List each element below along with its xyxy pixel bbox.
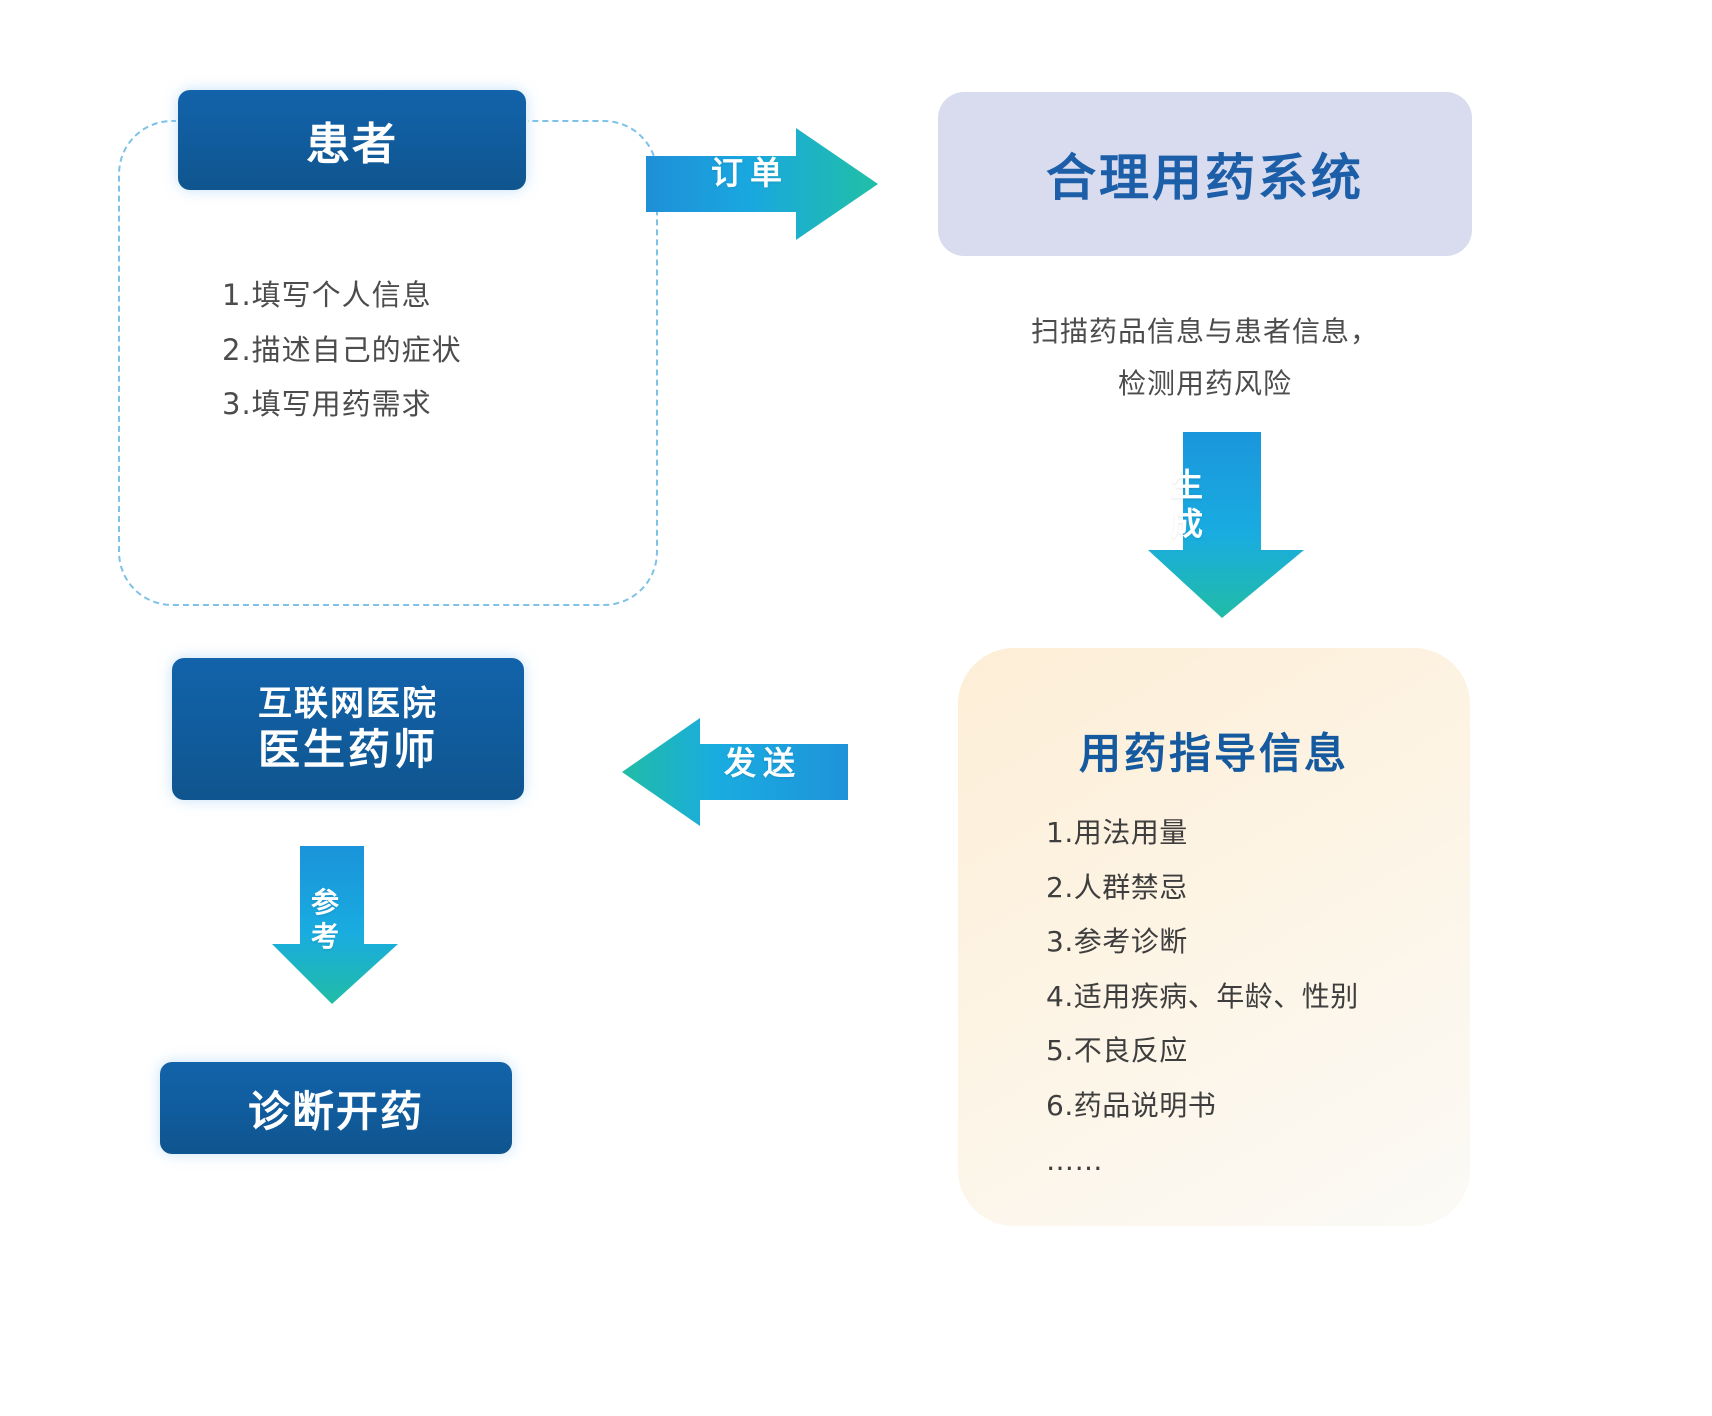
list-item: 2.人群禁忌 (1046, 861, 1466, 916)
arrow-generate-label: 生 成 (1160, 466, 1214, 544)
guidance-title: 用药指导信息 (958, 720, 1470, 781)
node-diagnose-prescribe-label: 诊断开药 (248, 1078, 424, 1139)
list-item: …… (1046, 1134, 1466, 1189)
node-patient[interactable]: 患者 (178, 90, 526, 190)
node-diagnose-prescribe[interactable]: 诊断开药 (160, 1062, 512, 1154)
node-medication-guidance[interactable]: 用药指导信息 1.用法用量 2.人群禁忌 3.参考诊断 4.适用疾病、年龄、性别… (958, 648, 1470, 1226)
node-rational-drug-system[interactable]: 合理用药系统 (938, 92, 1472, 256)
list-item: 4.适用疾病、年龄、性别 (1046, 970, 1466, 1025)
system-description-line: 检测用药风险 (938, 358, 1472, 410)
node-patient-label: 患者 (306, 108, 398, 172)
arrow-generate-char: 成 (1160, 505, 1214, 544)
arrow-reference-char: 参 (302, 886, 348, 920)
list-item: 6.药品说明书 (1046, 1079, 1466, 1134)
node-internet-hospital[interactable]: 互联网医院 医生药师 (172, 658, 524, 800)
system-title: 合理用药系统 (1046, 138, 1364, 210)
list-item: 3.填写用药需求 (222, 377, 622, 432)
list-item: 1.用法用量 (1046, 806, 1466, 861)
patient-step-list: 1.填写个人信息 2.描述自己的症状 3.填写用药需求 (222, 268, 622, 432)
system-description-line: 扫描药品信息与患者信息， (938, 306, 1472, 358)
node-internet-hospital-line1: 互联网医院 (258, 685, 438, 723)
arrow-reference-label: 参 考 (302, 886, 348, 953)
arrow-generate-char: 生 (1160, 466, 1214, 505)
list-item: 3.参考诊断 (1046, 915, 1466, 970)
system-description: 扫描药品信息与患者信息， 检测用药风险 (938, 306, 1472, 410)
diagram-canvas: 患者 1.填写个人信息 2.描述自己的症状 3.填写用药需求 订单 合理用药系统… (0, 0, 1712, 1416)
list-item: 1.填写个人信息 (222, 268, 622, 323)
arrow-reference-char: 考 (302, 920, 348, 954)
list-item: 2.描述自己的症状 (222, 323, 622, 378)
guidance-list: 1.用法用量 2.人群禁忌 3.参考诊断 4.适用疾病、年龄、性别 5.不良反应… (1046, 806, 1466, 1188)
arrow-send-label: 发送 (700, 738, 826, 784)
node-internet-hospital-line2: 医生药师 (258, 726, 438, 773)
arrow-order-label: 订单 (690, 148, 810, 194)
list-item: 5.不良反应 (1046, 1024, 1466, 1079)
